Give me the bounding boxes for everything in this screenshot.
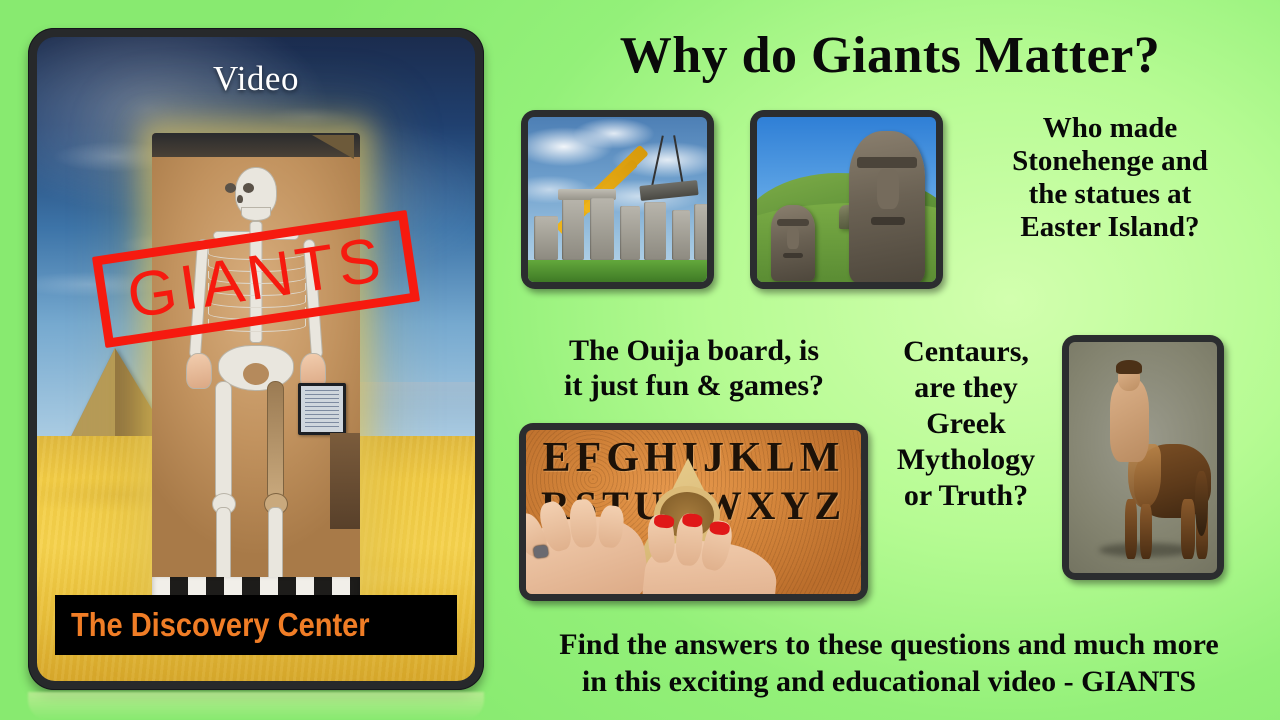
ouija-thumbnail[interactable]: EFGHIJKLM RSTUVWXYZ O (519, 423, 868, 601)
moai-statue-large (849, 131, 925, 282)
caption-line: Greek (876, 406, 1056, 442)
footer-line: Find the answers to these questions and … (498, 627, 1280, 664)
skull-eye-left (225, 183, 236, 193)
stonehenge-caption: Who made Stonehenge and the statues at E… (960, 112, 1260, 244)
discovery-center-bar: The Discovery Center (55, 595, 457, 655)
footer-line: in this exciting and educational video -… (498, 664, 1280, 701)
dvd-cover-artwork: Video GIANTS The Discovery Center (37, 37, 475, 681)
skull-nose (237, 195, 243, 203)
fingernail-red (653, 514, 674, 529)
footer-caption: Find the answers to these questions and … (498, 627, 1280, 700)
ouija-caption: The Ouija board, is it just fun & games? (518, 334, 870, 404)
easter-island-thumbnail[interactable] (750, 110, 943, 289)
exhibit-placard (298, 383, 346, 435)
stonehenge-stone (694, 204, 707, 260)
fingernail-red (709, 521, 730, 536)
video-label: Video (37, 59, 475, 99)
stonehenge-thumbnail[interactable] (521, 110, 714, 289)
exhibit-wall (152, 133, 360, 613)
stonehenge-stone (672, 210, 690, 260)
ouija-image: EFGHIJKLM RSTUVWXYZ O (526, 430, 861, 594)
centaur-leg-front2 (1140, 504, 1152, 559)
centaur-human-torso (1110, 379, 1148, 462)
caption-line: it just fun & games? (518, 369, 870, 404)
moai-statue-small (771, 205, 815, 281)
caption-line: The Ouija board, is (518, 334, 870, 369)
femur-bone-left (215, 381, 232, 501)
pelvis-opening (243, 363, 269, 385)
caption-line: Centaurs, (876, 334, 1056, 370)
stonehenge-stone (620, 206, 640, 260)
stonehenge-stone (590, 198, 614, 260)
exhibit-ceiling-beam (312, 135, 354, 159)
discovery-center-label: The Discovery Center (71, 606, 370, 644)
fingernail-red (682, 513, 703, 528)
caption-line: Easter Island? (960, 211, 1260, 244)
centaur-hair (1116, 360, 1141, 374)
page-title: Why do Giants Matter? (520, 26, 1260, 85)
caption-line: Who made (960, 112, 1260, 145)
easter-island-image (757, 117, 936, 282)
exhibit-pedestal (330, 433, 360, 529)
museum-exhibit-photo (152, 133, 360, 613)
centaur-tail (1195, 471, 1208, 536)
stonehenge-grass (528, 260, 707, 282)
slide-canvas: Video GIANTS The Discovery Center Why do… (0, 0, 1280, 720)
centaur-leg-front (1125, 499, 1137, 559)
skull-eye-right (243, 183, 254, 193)
centaur-image (1069, 342, 1217, 573)
hand-bones-left (186, 353, 212, 389)
stonehenge-stone (644, 202, 666, 260)
caption-line: Stonehenge and (960, 145, 1260, 178)
centaur-thumbnail[interactable] (1062, 335, 1224, 580)
centaur-caption: Centaurs, are they Greek Mythology or Tr… (876, 334, 1056, 514)
caption-line: are they (876, 370, 1056, 406)
dvd-cover-panel[interactable]: Video GIANTS The Discovery Center (28, 28, 484, 690)
stonehenge-stone (562, 198, 584, 260)
caption-line: the statues at (960, 178, 1260, 211)
caption-line: Mythology (876, 442, 1056, 478)
centaur-leg-rear (1181, 499, 1194, 559)
ring-jewelry (533, 545, 549, 559)
caption-line: or Truth? (876, 478, 1056, 514)
skull-jaw (241, 207, 271, 221)
dvd-cover-reflection (28, 692, 484, 720)
stonehenge-image (528, 117, 707, 282)
femur-bone-real-specimen (267, 381, 284, 501)
stonehenge-stone (534, 216, 558, 260)
